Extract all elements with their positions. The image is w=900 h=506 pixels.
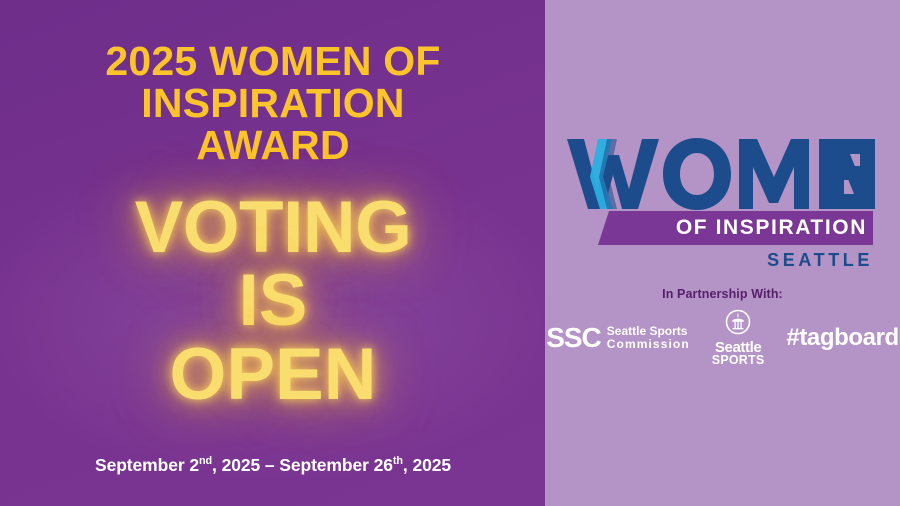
date-end-year: 2025	[412, 455, 451, 475]
ssc-monogram: SSC	[546, 324, 601, 352]
award-headline: 2025 WOMEN OF INSPIRATION AWARD	[28, 40, 518, 167]
date-separator: –	[265, 455, 275, 475]
ssc-wordmark: Seattle Sports Commission	[607, 325, 690, 351]
logo-locality: SEATTLE	[767, 250, 873, 271]
callout-line-voting: VOTING	[28, 192, 518, 264]
sponsor-logo-row: SSC Seattle Sports Commission Sea	[550, 310, 895, 366]
callout-line-open: OPEN	[28, 338, 518, 412]
date-start-year: 2025	[222, 455, 261, 475]
date-start-month: September	[95, 455, 185, 475]
promo-poster: 2025 WOMEN OF INSPIRATION AWARD VOTING I…	[0, 0, 900, 506]
women-of-inspiration-logo: OF INSPIRATION SEATTLE	[567, 137, 873, 277]
date-end-month: September	[279, 455, 369, 475]
callout-line-is: IS	[28, 264, 518, 338]
voting-status-callout: VOTING IS OPEN	[28, 192, 518, 412]
sponsor-seattle-sports-commission: SSC Seattle Sports Commission	[546, 324, 690, 352]
headline-line-2: INSPIRATION	[28, 82, 518, 124]
date-start-ordinal: nd	[199, 455, 212, 467]
ssc-wordmark-line-2: Commission	[607, 338, 690, 351]
banner-label: OF INSPIRATION	[676, 216, 867, 240]
partnership-label: In Partnership With:	[545, 287, 900, 301]
sponsor-seattle-sports: Seattle SPORTS	[712, 309, 765, 367]
women-wordmark	[567, 137, 873, 211]
headline-line-1: 2025 WOMEN OF	[28, 40, 518, 82]
women-wordmark-n	[829, 137, 875, 211]
of-inspiration-banner: OF INSPIRATION	[598, 211, 873, 245]
sponsor-tagboard: #tagboard	[786, 324, 898, 352]
seattle-sports-line-2: SPORTS	[712, 354, 765, 367]
date-start-day: 2	[189, 455, 199, 475]
date-end-ordinal: th	[393, 455, 403, 467]
space-needle-circle-icon	[725, 309, 751, 339]
headline-line-3: AWARD	[28, 124, 518, 166]
voting-date-range: September 2nd, 2025 – September 26th, 20…	[28, 455, 518, 476]
date-end-day: 26	[374, 455, 393, 475]
